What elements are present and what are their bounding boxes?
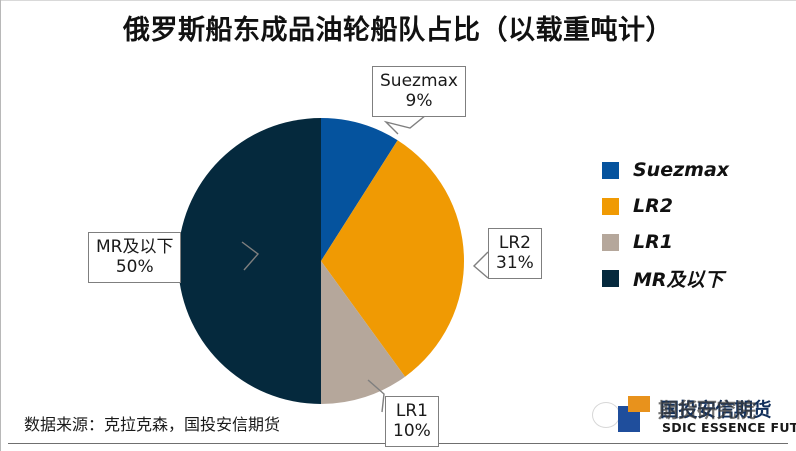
chart-slide: 俄罗斯船东成品油轮船队占比（以载重吨计） Suezmax 9% LR2 [0, 0, 796, 451]
legend-swatch-lr2 [602, 198, 619, 215]
slide-left-border [0, 0, 1, 451]
data-label-mr: MR及以下 50% [88, 232, 181, 283]
data-label-lr2-value: 31% [496, 253, 534, 273]
slide-top-border [0, 0, 796, 1]
legend-item-lr1[interactable]: LR1 [602, 224, 792, 260]
data-label-suezmax-name: Suezmax [380, 71, 458, 91]
legend-swatch-mr [602, 270, 619, 287]
legend-item-lr2[interactable]: LR2 [602, 188, 792, 224]
data-label-suezmax: Suezmax 9% [372, 66, 466, 117]
pie-chart-svg [170, 118, 472, 404]
legend-label-lr1: LR1 [633, 231, 673, 253]
data-label-lr1: LR1 10% [385, 396, 439, 447]
source-note: 数据来源：克拉克森，国投安信期货 [24, 411, 280, 435]
brand-block: 国投安信期货 期货研究院 SDIC ESSENCE FUTURES [596, 392, 792, 440]
legend-swatch-suezmax [602, 162, 619, 179]
pie-chart [170, 118, 472, 404]
legend-label-lr2: LR2 [633, 195, 673, 217]
legend-item-suezmax[interactable]: Suezmax [602, 152, 792, 188]
data-label-mr-name: MR及以下 [96, 237, 173, 257]
legend-swatch-lr1 [602, 234, 619, 251]
data-label-lr2-name: LR2 [496, 233, 534, 253]
sdic-logo-icon [614, 394, 656, 436]
brand-watermark-text: 期货研究院 [658, 394, 756, 423]
legend-label-suezmax: Suezmax [633, 159, 729, 181]
chart-legend: Suezmax LR2 LR1 MR及以下 [602, 152, 792, 296]
data-label-lr1-name: LR1 [393, 401, 431, 421]
legend-label-mr: MR及以下 [633, 265, 724, 292]
page-title: 俄罗斯船东成品油轮船队占比（以载重吨计） [0, 8, 796, 47]
data-label-lr2: LR2 31% [488, 228, 542, 279]
legend-item-mr[interactable]: MR及以下 [602, 260, 792, 296]
data-label-lr1-value: 10% [393, 421, 431, 441]
data-label-suezmax-value: 9% [380, 91, 458, 111]
leader-line-mr [238, 240, 294, 286]
brand-en-name: SDIC ESSENCE FUTURES [662, 420, 796, 435]
data-label-mr-value: 50% [96, 257, 173, 277]
